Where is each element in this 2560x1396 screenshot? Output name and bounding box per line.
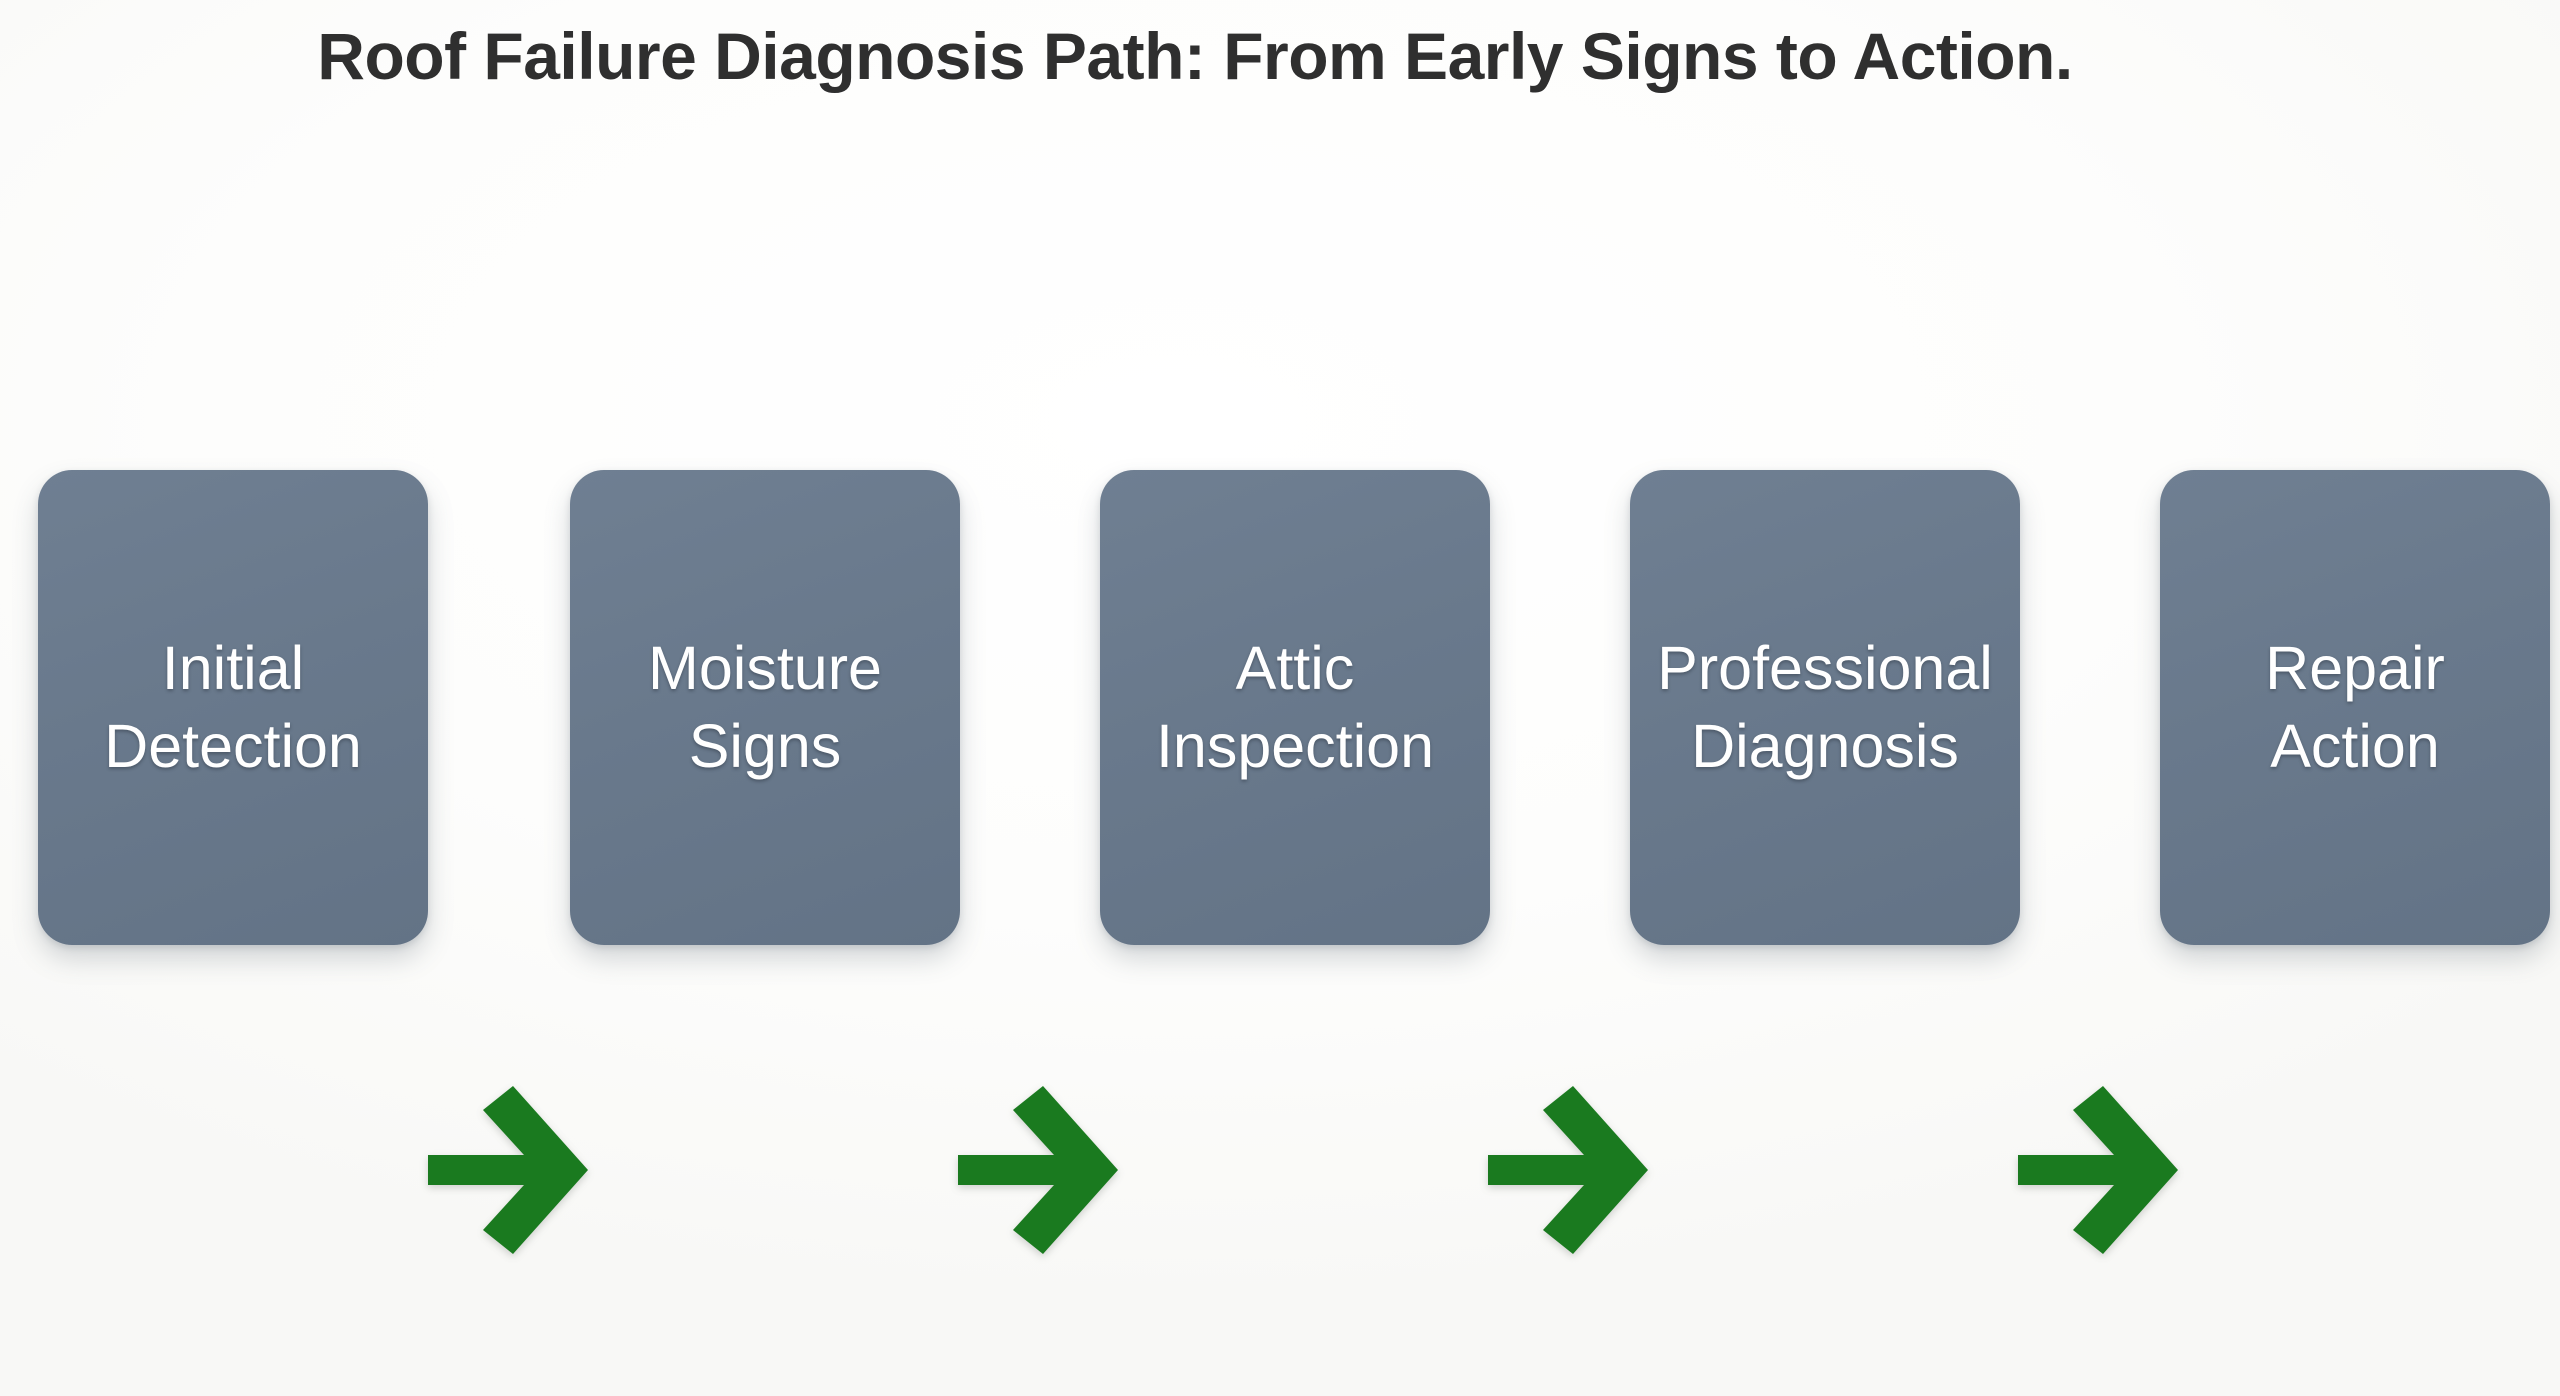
- flow-node-label: Initial Detection: [90, 630, 376, 785]
- flow-node-attic-inspection[interactable]: Attic Inspection: [1100, 470, 1490, 945]
- flow-node-repair-action[interactable]: Repair Action: [2160, 470, 2550, 945]
- page-title: Roof Failure Diagnosis Path: From Early …: [0, 18, 2390, 94]
- arrow-right-icon: [1488, 1080, 1668, 1260]
- flow-node-label: Professional Diagnosis: [1643, 630, 2007, 785]
- flow-node-label: Moisture Signs: [634, 630, 896, 785]
- arrow-right-icon: [958, 1080, 1138, 1260]
- arrow-right-icon: [428, 1080, 608, 1260]
- flow-node-label: Repair Action: [2251, 630, 2459, 785]
- arrow-right-icon: [2018, 1080, 2198, 1260]
- flow-node-professional-diagnosis[interactable]: Professional Diagnosis: [1630, 470, 2020, 945]
- flow-node-moisture-signs[interactable]: Moisture Signs: [570, 470, 960, 945]
- diagram-canvas: Roof Failure Diagnosis Path: From Early …: [0, 0, 2560, 1396]
- process-flow: Initial Detection Moisture Signs Attic I…: [0, 470, 2560, 950]
- flow-node-initial-detection[interactable]: Initial Detection: [38, 470, 428, 945]
- flow-node-label: Attic Inspection: [1142, 630, 1448, 785]
